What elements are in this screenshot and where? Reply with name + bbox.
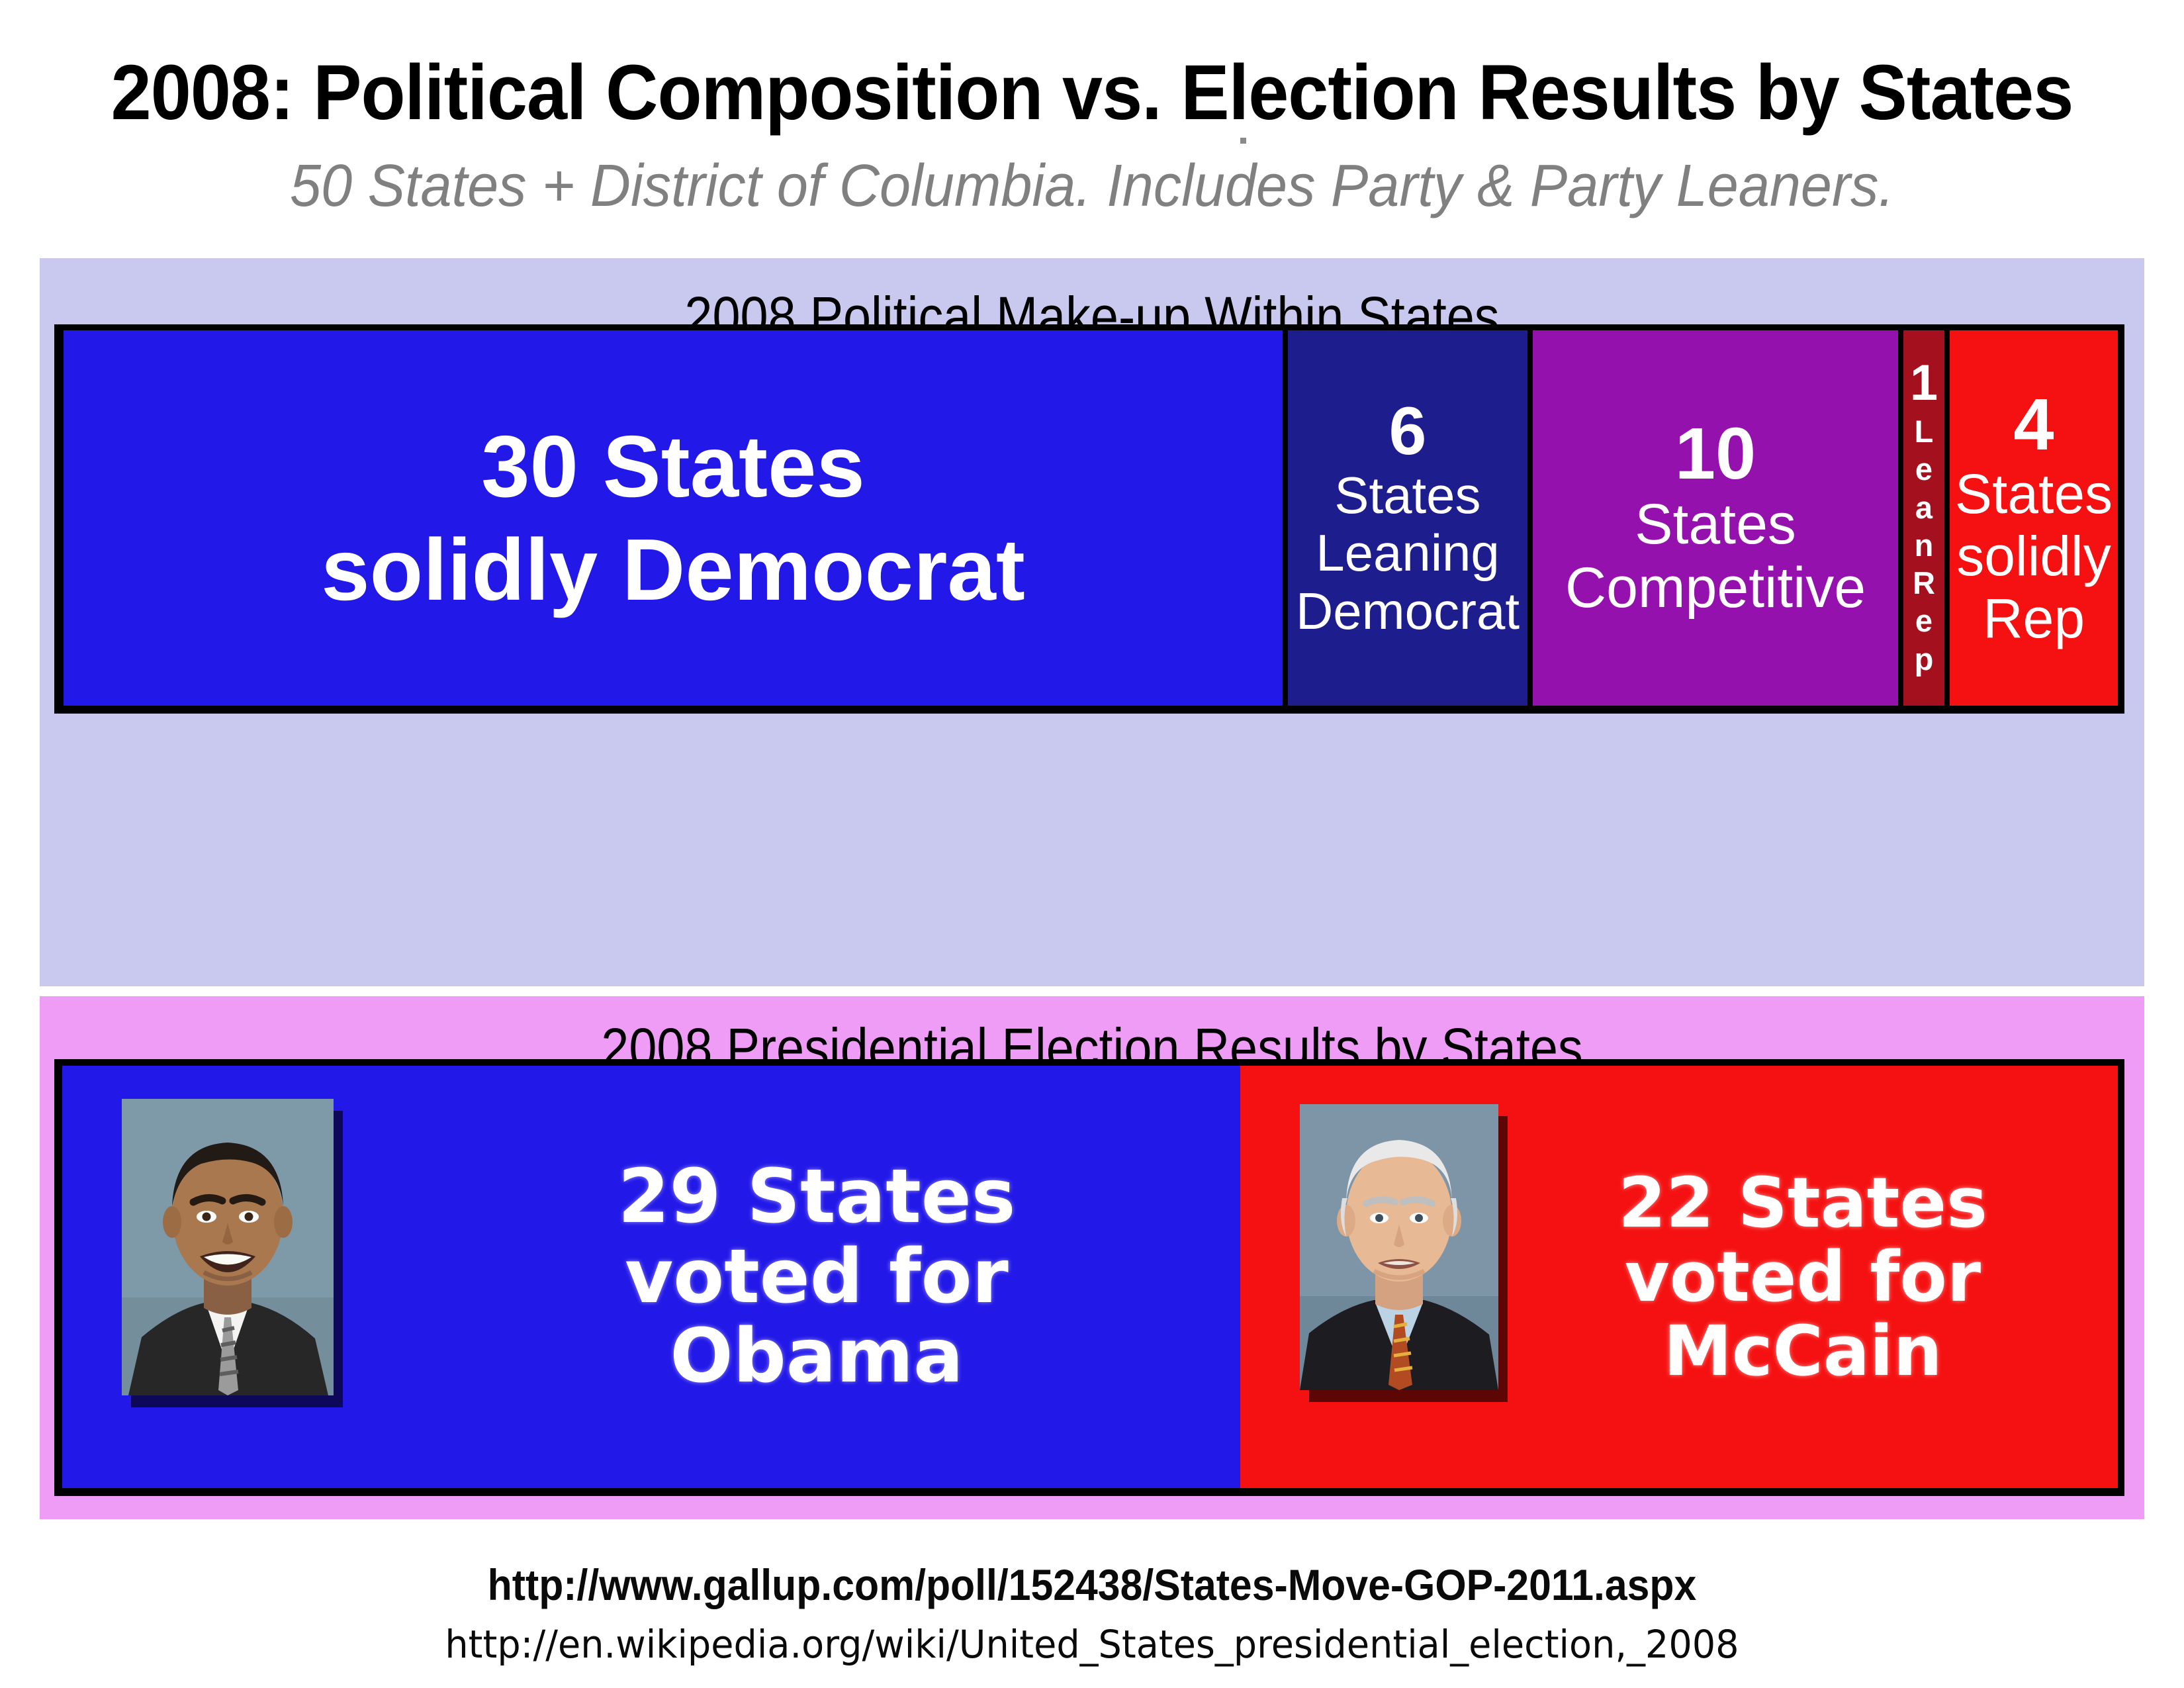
mccain-line3: McCain (1505, 1314, 2101, 1388)
segment-label-line3: Rep (1983, 587, 2085, 649)
segment-label-line2: Leaning (1316, 524, 1500, 582)
segment-label-line2: solidly (1956, 525, 2111, 587)
mccain-vote-text: 22 States voted for McCain (1505, 1166, 2101, 1389)
mccain-line1: 22 States (1505, 1166, 2101, 1240)
result-segment-mccain[interactable]: 22 States voted for McCain (1240, 1066, 2118, 1488)
vertical-letter: e (1913, 450, 1935, 488)
mccain-line2: voted for (1505, 1240, 2101, 1314)
segment-label-line2: solidly Democrat (321, 518, 1025, 622)
obama-line1: 29 States (433, 1157, 1201, 1237)
bar-segment-competitive[interactable]: 10 States Competitive (1533, 330, 1898, 706)
segment-label-line3: Democrat (1296, 583, 1520, 640)
obama-line3: Obama (433, 1317, 1201, 1397)
bar-segment-solidly-democrat[interactable]: 30 States solidly Democrat (64, 330, 1283, 706)
makeup-stacked-bar: 30 States solidly Democrat 6 States Lean… (54, 324, 2124, 714)
segment-label-line1: States (1635, 492, 1796, 556)
segment-label-line1: States (1334, 467, 1480, 524)
segment-count: 10 (1675, 416, 1756, 492)
segment-count: 6 (1389, 396, 1427, 467)
source-url-wikipedia[interactable]: http://en.wikipedia.org/wiki/United_Stat… (44, 1622, 2140, 1667)
segment-label-vertical: LeanRep (1913, 412, 1935, 678)
vertical-letter: a (1913, 489, 1935, 526)
obama-vote-text: 29 States voted for Obama (433, 1157, 1201, 1397)
segment-label-line2: Competitive (1565, 556, 1866, 620)
bar-segment-solidly-republican[interactable]: 4 States solidly Rep (1950, 330, 2118, 706)
mccain-portrait-svg (1300, 1104, 1498, 1390)
result-segment-obama[interactable]: 29 States voted for Obama (62, 1066, 1240, 1488)
election-results-bar: 29 States voted for Obama (54, 1059, 2124, 1496)
vertical-letter: e (1913, 602, 1935, 639)
obama-line2: voted for (433, 1237, 1201, 1317)
segment-count: 1 (1910, 358, 1938, 408)
segment-label-line1: States (1955, 463, 2113, 525)
vertical-letter: R (1913, 564, 1935, 602)
obama-portrait-svg (122, 1099, 334, 1395)
bar-segment-leaning-democrat[interactable]: 6 States Leaning Democrat (1288, 330, 1527, 706)
source-url-gallup[interactable]: http://www.gallup.com/poll/152438/States… (87, 1560, 2097, 1610)
vertical-letter: p (1913, 640, 1935, 678)
page-title: 2008: Political Composition vs. Election… (77, 48, 2108, 138)
title-dot-artifact (1240, 138, 1246, 144)
segment-label-line1: 30 States (481, 415, 865, 518)
vertical-letter: L (1913, 412, 1935, 450)
vertical-letter: n (1913, 526, 1935, 564)
page-subtitle: 50 States + District of Columbia. Includ… (66, 152, 2118, 220)
bar-segment-lean-republican[interactable]: 1 LeanRep (1903, 330, 1944, 706)
segment-count: 4 (2013, 387, 2054, 463)
obama-portrait-photo (122, 1099, 334, 1395)
mccain-portrait-photo (1300, 1104, 1498, 1390)
